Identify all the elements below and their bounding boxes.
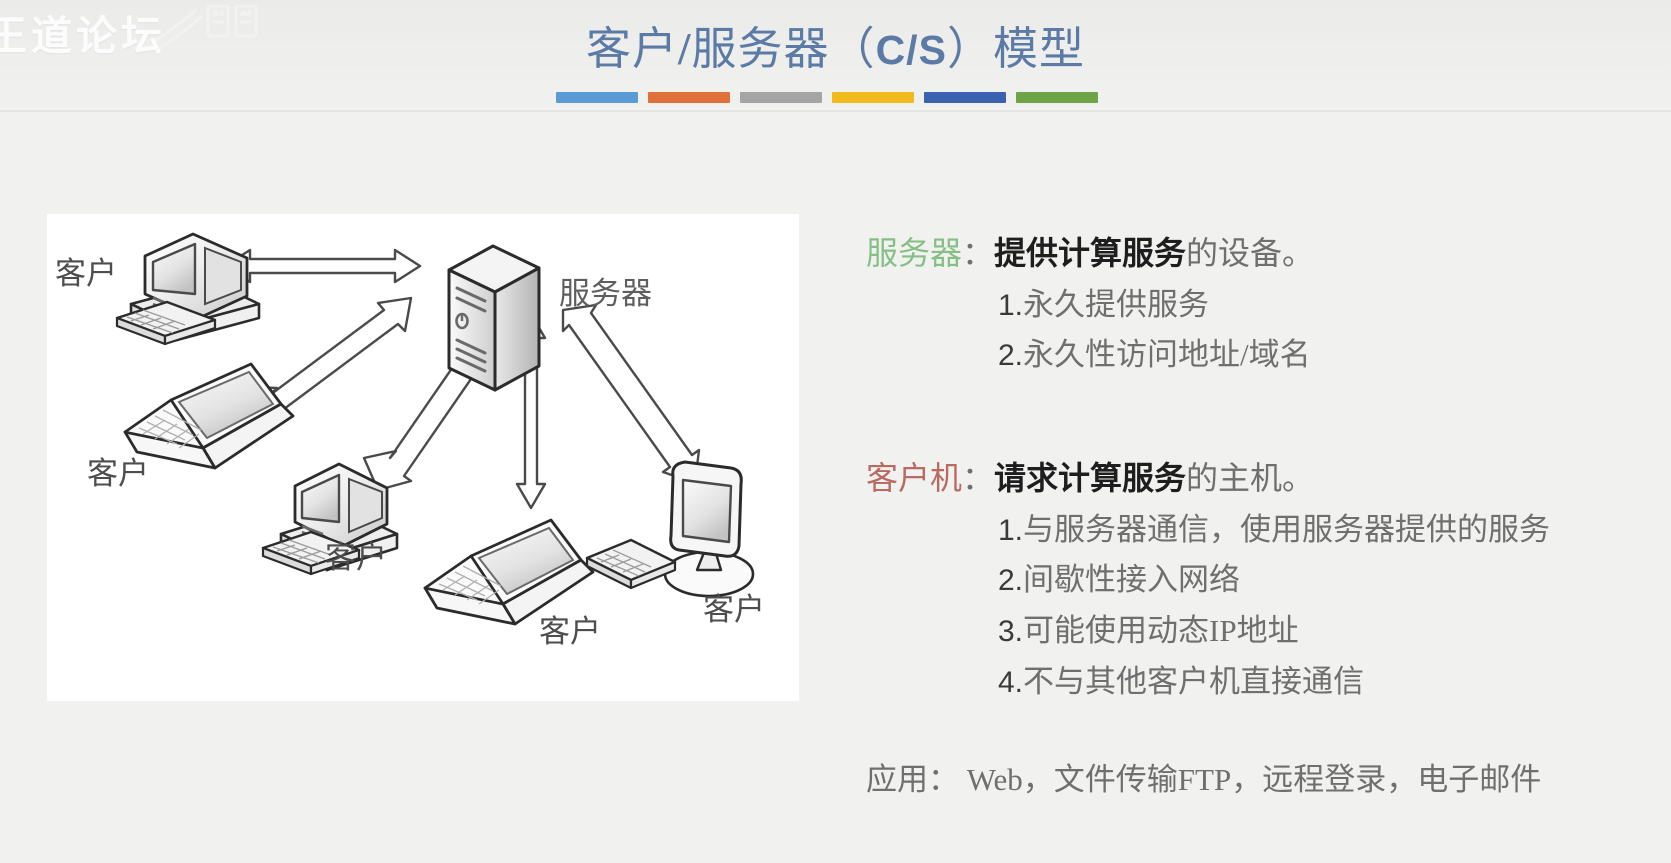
section-spacer <box>866 381 1656 453</box>
server-item-1: 1.永久提供服务 <box>998 280 1656 331</box>
server-item-2: 2.永久性访问地址/域名 <box>998 330 1656 381</box>
client-label-desktop-bottom: 客户 <box>325 540 387 575</box>
application-spacer <box>866 707 1656 755</box>
bar-blue-light <box>556 92 638 103</box>
slide-root: 王道论坛 客户/服务器（C/S）模型 <box>0 0 1671 863</box>
title-cs: C/S <box>876 27 947 73</box>
title-part3: 模型 <box>993 24 1085 74</box>
server-emphasis: 提供计算服务 <box>994 235 1186 271</box>
title-slash: / <box>678 24 692 74</box>
content-column: 服务器：提供计算服务的设备。 1.永久提供服务 2.永久性访问地址/域名 客户机… <box>866 228 1656 805</box>
client-item-3: 3.可能使用动态IP地址 <box>998 606 1656 657</box>
client-monitor-right-icon <box>587 462 753 596</box>
client-label-monitor-right: 客户 <box>703 592 765 627</box>
title-paren-close: ） <box>947 24 993 74</box>
client-item-1-text: 与服务器通信，使用服务器提供的服务 <box>1023 512 1550 547</box>
client-item-1-num: 1. <box>998 514 1023 547</box>
page-title: 客户/服务器（C/S）模型 <box>0 12 1671 77</box>
server-colon: ： <box>962 235 994 271</box>
client-definition-line: 客户机：请求计算服务的主机。 <box>866 453 1656 505</box>
server-keyword: 服务器 <box>866 235 962 271</box>
header-divider <box>0 110 1671 112</box>
title-part1: 客户 <box>586 24 678 74</box>
link-arrow-topleft <box>225 250 420 282</box>
title-accent-bars <box>556 92 1098 103</box>
client-item-2-text: 间歇性接入网络 <box>1023 562 1240 597</box>
server-label: 服务器 <box>559 276 652 311</box>
client-label-laptop-bottom: 客户 <box>539 614 601 649</box>
application-label: 应用： <box>866 762 959 797</box>
title-part2: 服务器 <box>692 24 830 74</box>
client-item-3-num: 3. <box>998 615 1023 648</box>
client-colon: ： <box>962 460 994 496</box>
client-item-4: 4.不与其他客户机直接通信 <box>998 657 1656 708</box>
client-emphasis: 请求计算服务 <box>994 460 1186 496</box>
server-definition-line: 服务器：提供计算服务的设备。 <box>866 228 1656 280</box>
client-tail: 的主机。 <box>1186 460 1314 496</box>
client-item-2: 2.间歇性接入网络 <box>998 555 1656 606</box>
client-item-3-text: 可能使用动态IP地址 <box>1023 613 1299 648</box>
client-desktop-topleft-icon <box>117 234 259 344</box>
bar-gray <box>740 92 822 103</box>
server-item-1-num: 1. <box>998 289 1023 322</box>
application-line: 应用： Web，文件传输FTP，远程登录，电子邮件 <box>866 755 1656 805</box>
client-item-4-text: 不与其他客户机直接通信 <box>1023 664 1364 699</box>
client-item-4-num: 4. <box>998 666 1023 699</box>
keyboard <box>587 540 675 588</box>
client-item-2-num: 2. <box>998 564 1023 597</box>
server-item-2-num: 2. <box>998 339 1023 372</box>
client-label-laptop-left: 客户 <box>87 456 149 491</box>
application-value: Web，文件传输FTP，远程登录，电子邮件 <box>967 762 1541 797</box>
client-keyword: 客户机 <box>866 460 962 496</box>
client-item-1: 1.与服务器通信，使用服务器提供的服务 <box>998 505 1656 556</box>
client-label-topleft: 客户 <box>55 256 117 291</box>
client-laptop-left-icon <box>125 364 293 468</box>
server-icon <box>449 244 539 390</box>
bar-orange <box>648 92 730 103</box>
bar-blue-dark <box>924 92 1006 103</box>
link-arrow-monitor-right <box>563 305 699 483</box>
server-item-1-text: 永久提供服务 <box>1023 287 1209 322</box>
bar-green <box>1016 92 1098 103</box>
server-tail: 的设备。 <box>1186 235 1314 271</box>
title-paren-open: （ <box>830 24 876 74</box>
client-laptop-bottom-icon <box>425 520 593 624</box>
bar-yellow <box>832 92 914 103</box>
cs-topology-diagram: 服务器 <box>47 214 799 701</box>
server-item-2-text: 永久性访问地址/域名 <box>1023 337 1311 372</box>
